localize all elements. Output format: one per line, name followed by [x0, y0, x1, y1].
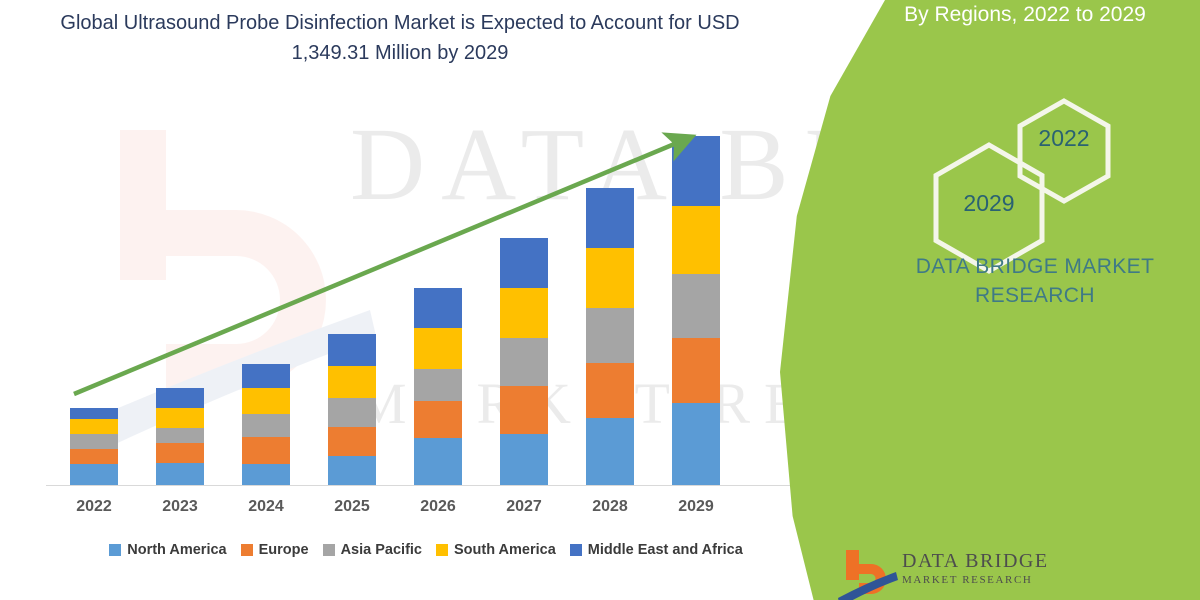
bar-segment-2023-middle-east-and-africa — [156, 388, 204, 408]
x-label-2026: 2026 — [398, 498, 478, 516]
bar-2022 — [70, 408, 118, 486]
bar-segment-2029-north-america — [672, 403, 720, 486]
panel-brand-line-2: RESEARCH — [885, 281, 1185, 310]
legend-item-south-america[interactable]: South America — [436, 542, 556, 558]
bar-segment-2022-north-america — [70, 464, 118, 486]
legend-swatch-icon — [323, 544, 335, 556]
bar-segment-2029-asia-pacific — [672, 274, 720, 338]
bar-segment-2028-asia-pacific — [586, 308, 634, 363]
x-label-2028: 2028 — [570, 498, 650, 516]
panel-title: By Regions, 2022 to 2029 — [860, 2, 1190, 28]
bar-segment-2026-europe — [414, 401, 462, 438]
bar-segment-2027-europe — [500, 386, 548, 434]
bar-segment-2025-north-america — [328, 456, 376, 486]
bar-segment-2024-north-america — [242, 464, 290, 486]
x-label-2025: 2025 — [312, 498, 392, 516]
bar-2029 — [672, 136, 720, 486]
x-label-2024: 2024 — [226, 498, 306, 516]
chart-region: Global Ultrasound Probe Disinfection Mar… — [0, 0, 830, 600]
bar-segment-2024-europe — [242, 437, 290, 464]
stacked-bar-plot — [0, 0, 830, 486]
bar-2024 — [242, 364, 290, 486]
legend-swatch-icon — [570, 544, 582, 556]
chart-legend: North AmericaEuropeAsia PacificSouth Ame… — [46, 538, 806, 562]
panel-brand-line-1: DATA BRIDGE MARKET — [885, 252, 1185, 281]
bar-segment-2026-south-america — [414, 328, 462, 369]
bar-2028 — [586, 188, 634, 486]
hexagon-2022-label: 2022 — [1016, 125, 1112, 152]
legend-item-north-america[interactable]: North America — [109, 542, 226, 558]
bar-segment-2028-north-america — [586, 418, 634, 486]
bar-segment-2028-middle-east-and-africa — [586, 188, 634, 248]
bar-segment-2027-middle-east-and-africa — [500, 238, 548, 288]
bar-segment-2029-europe — [672, 338, 720, 403]
bar-segment-2024-asia-pacific — [242, 414, 290, 437]
bar-segment-2026-north-america — [414, 438, 462, 486]
legend-item-europe[interactable]: Europe — [241, 542, 309, 558]
bar-segment-2027-asia-pacific — [500, 338, 548, 386]
x-label-2022: 2022 — [54, 498, 134, 516]
bar-segment-2023-south-america — [156, 408, 204, 428]
bar-2026 — [414, 288, 462, 486]
bar-segment-2025-asia-pacific — [328, 398, 376, 427]
panel-brand: DATA BRIDGE MARKET RESEARCH — [885, 252, 1185, 310]
bar-2025 — [328, 334, 376, 486]
legend-swatch-icon — [436, 544, 448, 556]
databridge-b-icon — [838, 548, 898, 600]
bar-segment-2026-asia-pacific — [414, 369, 462, 401]
x-axis-labels: 20222023202420252026202720282029 — [0, 498, 830, 522]
bar-segment-2024-middle-east-and-africa — [242, 364, 290, 388]
legend-swatch-icon — [241, 544, 253, 556]
bar-segment-2025-south-america — [328, 366, 376, 398]
legend-label: Asia Pacific — [341, 542, 422, 558]
axis-baseline — [46, 485, 801, 486]
bar-segment-2025-europe — [328, 427, 376, 456]
bar-segment-2027-north-america — [500, 434, 548, 486]
bar-segment-2024-south-america — [242, 388, 290, 414]
bar-segment-2022-europe — [70, 449, 118, 464]
bar-segment-2023-asia-pacific — [156, 428, 204, 443]
legend-label: North America — [127, 542, 226, 558]
bar-segment-2028-south-america — [586, 248, 634, 308]
x-label-2027: 2027 — [484, 498, 564, 516]
bar-segment-2026-middle-east-and-africa — [414, 288, 462, 328]
legend-swatch-icon — [109, 544, 121, 556]
x-label-2023: 2023 — [140, 498, 220, 516]
bar-segment-2029-middle-east-and-africa — [672, 136, 720, 206]
databridge-logo: DATA BRIDGE MARKET RESEARCH — [838, 548, 1078, 600]
bar-segment-2022-middle-east-and-africa — [70, 408, 118, 419]
logo-name: DATA BRIDGE — [902, 550, 1049, 573]
x-label-2029: 2029 — [656, 498, 736, 516]
bar-2027 — [500, 238, 548, 486]
legend-item-middle-east-and-africa[interactable]: Middle East and Africa — [570, 542, 743, 558]
bar-2023 — [156, 388, 204, 486]
bar-segment-2023-north-america — [156, 463, 204, 486]
bar-segment-2022-south-america — [70, 419, 118, 434]
bar-segment-2028-europe — [586, 363, 634, 418]
legend-item-asia-pacific[interactable]: Asia Pacific — [323, 542, 422, 558]
legend-label: South America — [454, 542, 556, 558]
bar-segment-2025-middle-east-and-africa — [328, 334, 376, 366]
infographic-canvas: DATA BRIDGE MARKET RESEARCH Global Ultra… — [0, 0, 1200, 600]
bar-segment-2022-asia-pacific — [70, 434, 118, 449]
bar-segment-2029-south-america — [672, 206, 720, 274]
legend-label: Europe — [259, 542, 309, 558]
bar-segment-2027-south-america — [500, 288, 548, 338]
bar-segment-2023-europe — [156, 443, 204, 463]
legend-label: Middle East and Africa — [588, 542, 743, 558]
logo-tagline: MARKET RESEARCH — [902, 574, 1032, 586]
